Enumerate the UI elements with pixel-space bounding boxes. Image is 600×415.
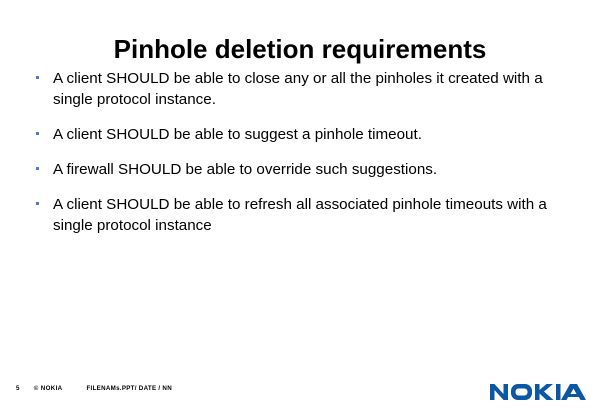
bullet-icon	[36, 202, 39, 205]
list-item: A firewall SHOULD be able to override su…	[30, 159, 570, 180]
footer-meta: 5 © NOKIA FILENAMs.PPT/ DATE / NN	[16, 385, 172, 392]
page-number: 5	[16, 385, 20, 392]
bullet-text: A firewall SHOULD be able to override su…	[53, 159, 570, 180]
list-item: A client SHOULD be able to suggest a pin…	[30, 124, 570, 145]
bullet-icon	[36, 132, 39, 135]
bullet-icon	[36, 167, 39, 170]
list-item: A client SHOULD be able to refresh all a…	[30, 194, 570, 236]
nokia-logo-icon	[490, 381, 586, 403]
slide: Pinhole deletion requirements A client S…	[0, 0, 600, 415]
bullet-text: A client SHOULD be able to close any or …	[53, 68, 570, 110]
page-title: Pinhole deletion requirements	[0, 33, 600, 65]
copyright-notice: © NOKIA	[34, 385, 63, 392]
list-item: A client SHOULD be able to close any or …	[30, 68, 570, 110]
bullet-list: A client SHOULD be able to close any or …	[30, 68, 570, 236]
slide-footer: 5 © NOKIA FILENAMs.PPT/ DATE / NN	[0, 385, 600, 415]
bullet-icon	[36, 76, 39, 79]
bullet-text: A client SHOULD be able to refresh all a…	[53, 194, 570, 236]
filename-placeholder: FILENAMs.PPT/ DATE / NN	[86, 385, 172, 392]
bullet-text: A client SHOULD be able to suggest a pin…	[53, 124, 570, 145]
